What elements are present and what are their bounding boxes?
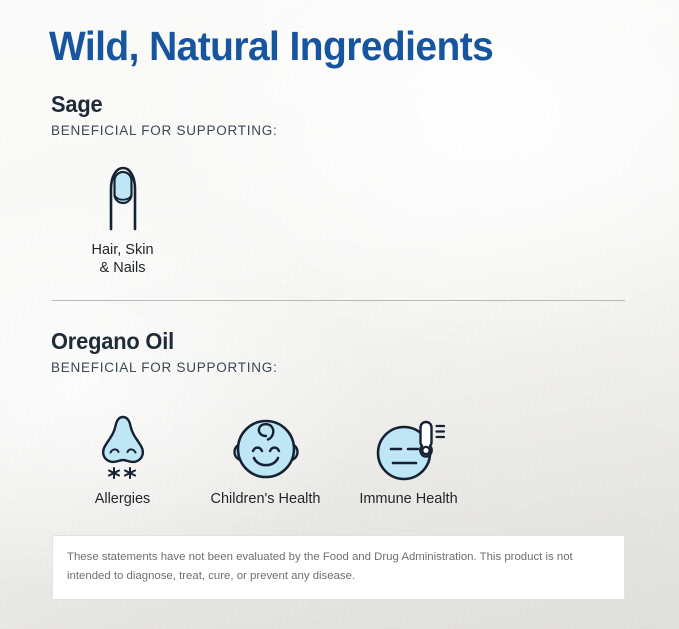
beneficial-label-sage: BENEFICIAL FOR SUPPORTING:	[51, 123, 278, 138]
thermometer-face-icon	[371, 412, 447, 484]
ingredient-name-sage: Sage	[51, 92, 266, 116]
benefit-item-childrens-health: Children's Health	[194, 412, 337, 508]
benefit-item-immune-health: Immune Health	[337, 412, 480, 508]
benefit-item-allergies: Allergies	[51, 412, 194, 508]
section-oregano-oil: Oregano Oil BENEFICIAL FOR SUPPORTING:	[51, 329, 278, 375]
benefit-label-immune-health: Immune Health	[359, 490, 457, 508]
fda-disclaimer: These statements have not been evaluated…	[52, 535, 625, 600]
benefit-icons-sage: Hair, Skin & Nails	[51, 163, 194, 277]
benefit-label-allergies: Allergies	[95, 490, 151, 508]
section-divider	[52, 300, 625, 301]
page-title: Wild, Natural Ingredients	[49, 23, 493, 70]
benefit-item-hair-skin-nails: Hair, Skin & Nails	[51, 163, 194, 277]
benefit-label-childrens-health: Children's Health	[211, 490, 321, 508]
ingredients-infographic: Wild, Natural Ingredients Sage BENEFICIA…	[0, 0, 679, 629]
section-sage: Sage BENEFICIAL FOR SUPPORTING:	[51, 92, 278, 138]
benefit-icons-oregano-oil: Allergies	[51, 412, 480, 508]
ingredient-name-oregano-oil: Oregano Oil	[51, 329, 266, 353]
benefit-label-hair-skin-nails: Hair, Skin & Nails	[91, 241, 153, 277]
fingernail-icon	[95, 163, 151, 235]
baby-face-icon	[229, 412, 303, 484]
nose-allergy-icon	[92, 412, 154, 484]
beneficial-label-oregano-oil: BENEFICIAL FOR SUPPORTING:	[51, 360, 278, 375]
